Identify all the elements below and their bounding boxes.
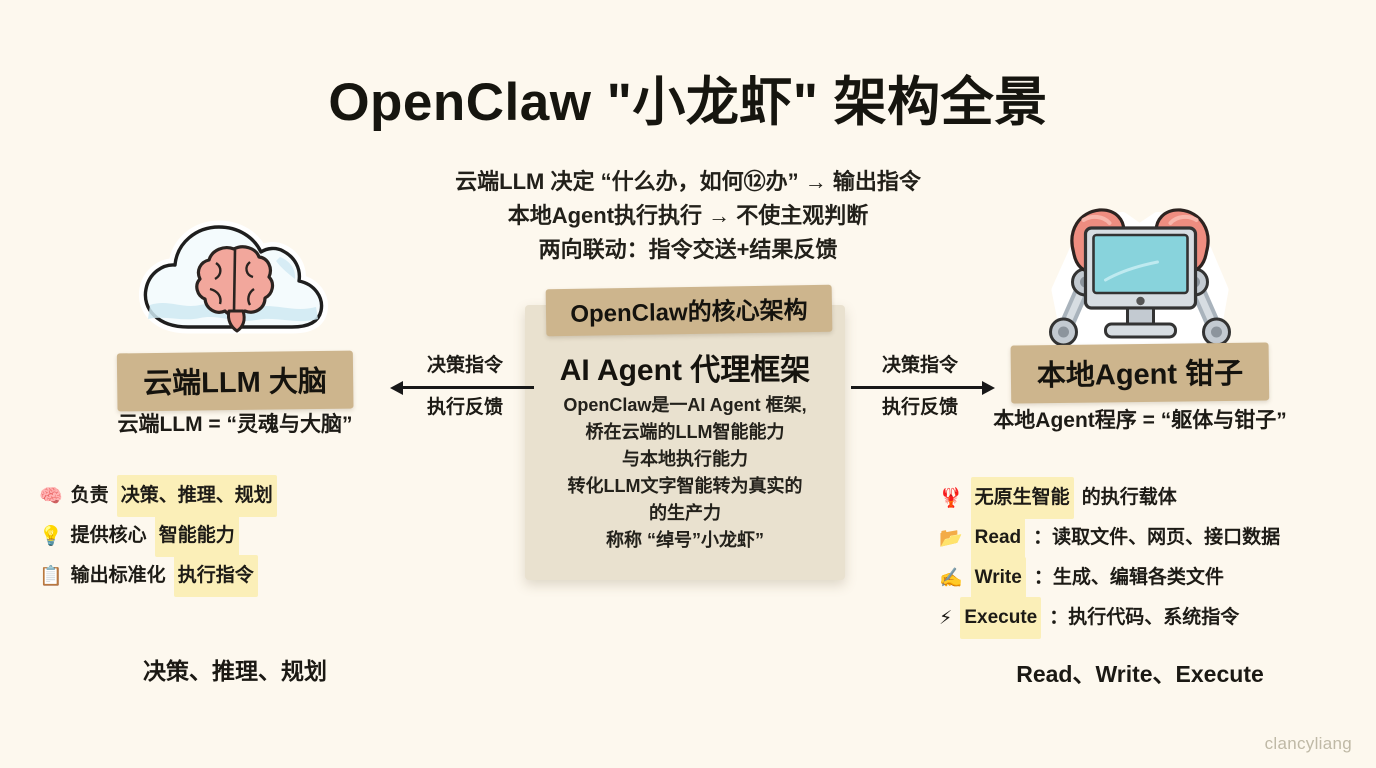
bullet-highlight: Write — [971, 557, 1026, 599]
bullet-post: ：读取文件、网页、接口数据 — [1033, 518, 1280, 558]
bullet-highlight: Read — [971, 517, 1025, 559]
right-footnote: Read、Write、Execute — [1016, 655, 1264, 689]
arrow-left-icon — [390, 380, 540, 394]
bullet-highlight: 智能能力 — [155, 515, 239, 557]
brain-icon: 🧠 — [39, 487, 63, 506]
bullet-highlight: 决策、推理、规划 — [117, 475, 277, 517]
diagram-canvas: OpenClaw "小龙虾" 架构全景 云端LLM 决定 “什么办，如何⑫办” … — [0, 0, 1376, 768]
arrow-left-bottom-label: 执行反馈 — [390, 394, 540, 422]
list-item: 📋 输出标准化 执行指令 — [39, 556, 439, 596]
list-item: 🦞 无原生智能 的执行载体 — [939, 478, 1359, 518]
watermark: clancyliang — [1265, 734, 1352, 754]
lightning-icon: ⚡ — [939, 609, 952, 628]
card-body-line: 与本地执行能力 — [529, 446, 841, 473]
bullet-pre: 输出标准化 — [71, 556, 166, 596]
list-item: 🧠 负责 决策、推理、规划 — [39, 476, 439, 516]
list-item: 📂 Read ：读取文件、网页、接口数据 — [939, 518, 1359, 558]
robot-claw-monitor-icon — [1028, 190, 1253, 345]
left-subtitle: 云端LLM = “灵魂与大脑” — [117, 408, 352, 438]
lobster-icon: 🦞 — [939, 489, 963, 508]
bullet-post: ：生成、编辑各类文件 — [1034, 558, 1224, 598]
folder-icon: 📂 — [939, 529, 963, 548]
left-column: 云端LLM 大脑 云端LLM = “灵魂与大脑” 🧠 负责 决策、推理、规划 💡… — [25, 0, 445, 768]
writing-hand-icon: ✍️ — [939, 569, 963, 588]
arrow-left-group: 决策指令 执行反馈 — [390, 352, 540, 422]
center-card-tab-label: OpenClaw的核心架构 — [546, 285, 833, 336]
bullet-highlight: 无原生智能 — [971, 477, 1074, 519]
arrow-left-top-label: 决策指令 — [390, 352, 540, 380]
left-footnote: 决策、推理、规划 — [143, 652, 327, 686]
arrow-right-bottom-label: 执行反馈 — [845, 394, 995, 422]
left-banner-label: 云端LLM 大脑 — [117, 351, 353, 412]
list-item: 💡 提供核心 智能能力 — [39, 516, 439, 556]
center-card-heading: AI Agent 代理框架 — [525, 345, 845, 389]
bullet-pre: 负责 — [71, 476, 109, 516]
list-item: ⚡ Execute ：执行代码、系统指令 — [939, 598, 1359, 638]
left-bullet-list: 🧠 负责 决策、推理、规划 💡 提供核心 智能能力 📋 输出标准化 执行指令 — [31, 476, 439, 596]
list-item: ✍️ Write ：生成、编辑各类文件 — [939, 558, 1359, 598]
arrow-right-group: 决策指令 执行反馈 — [845, 352, 995, 422]
card-body-line: 桥在云端的LLM智能能力 — [529, 419, 841, 446]
clipboard-icon: 📋 — [39, 567, 63, 586]
arrow-right-top-label: 决策指令 — [845, 352, 995, 380]
card-body-line: 的生产力 — [529, 500, 841, 527]
right-banner-label: 本地Agent 钳子 — [1011, 342, 1270, 403]
bullet-highlight: Execute — [960, 597, 1041, 639]
lightbulb-icon: 💡 — [39, 527, 63, 546]
bullet-highlight: 执行指令 — [174, 555, 258, 597]
card-body-line: OpenClaw是一AI Agent 框架, — [529, 392, 841, 419]
arrow-right-icon — [845, 380, 995, 394]
card-body-line: 称称 “绰号”小龙虾” — [529, 527, 841, 554]
center-card-body: OpenClaw是一AI Agent 框架, 桥在云端的LLM智能能力 与本地执… — [529, 392, 841, 554]
right-subtitle: 本地Agent程序 = “躯体与钳子” — [993, 404, 1286, 434]
brain-in-cloud-icon — [130, 205, 340, 345]
right-bullet-list: 🦞 无原生智能 的执行载体 📂 Read ：读取文件、网页、接口数据 ✍️ Wr… — [921, 478, 1359, 638]
bullet-post: 的执行载体 — [1082, 478, 1177, 518]
bullet-pre: 提供核心 — [71, 516, 147, 556]
bullet-post: ：执行代码、系统指令 — [1049, 598, 1239, 638]
card-body-line: 转化LLM文字智能转为真实的 — [529, 473, 841, 500]
